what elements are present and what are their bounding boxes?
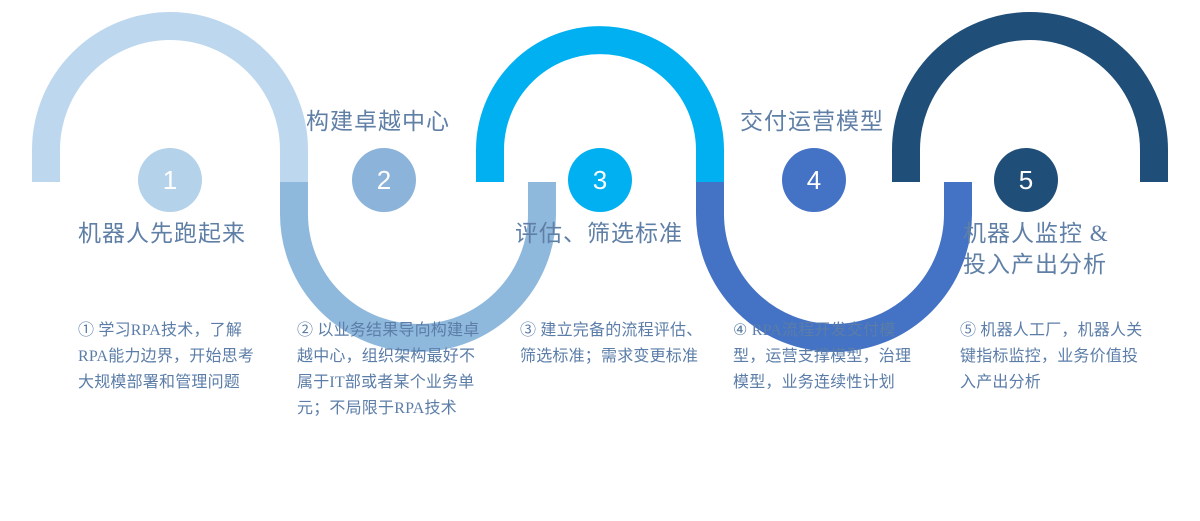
step-marker-3[interactable]: 3 <box>568 148 632 212</box>
step-description-4: ④ RPA流程开发交付模型，运营支撑模型，治理模型，业务连续性计划 <box>733 318 921 396</box>
step-number-3: 3 <box>593 167 607 193</box>
infographic-canvas: 1 2 3 4 5 机器人先跑起来 构建卓越中心 评估、筛选标准 交付运营模型 … <box>0 0 1200 521</box>
step-number-4: 4 <box>807 167 821 193</box>
step-description-3: ③ 建立完备的流程评估、筛选标准；需求变更标准 <box>520 318 708 370</box>
step-marker-4[interactable]: 4 <box>782 148 846 212</box>
step-marker-1[interactable]: 1 <box>138 148 202 212</box>
step-number-2: 2 <box>377 167 391 193</box>
step-marker-2[interactable]: 2 <box>352 148 416 212</box>
wave-segment-2 <box>294 182 542 338</box>
step-description-2: ② 以业务结果导向构建卓越中心，组织架构最好不属于IT部或者某个业务单元；不局限… <box>297 318 485 422</box>
phase-title-5: 机器人监控 & 投入产出分析 <box>963 218 1109 280</box>
step-number-5: 5 <box>1019 167 1033 193</box>
step-marker-5[interactable]: 5 <box>994 148 1058 212</box>
step-number-1: 1 <box>163 167 177 193</box>
wave-segment-4 <box>710 182 958 338</box>
phase-title-3: 评估、筛选标准 <box>515 218 683 249</box>
phase-title-4: 交付运营模型 <box>740 106 884 137</box>
step-description-5: ⑤ 机器人工厂，机器人关键指标监控，业务价值投入产出分析 <box>960 318 1148 396</box>
step-description-1: ① 学习RPA技术，了解RPA能力边界，开始思考大规模部署和管理问题 <box>78 318 266 396</box>
phase-title-1: 机器人先跑起来 <box>78 218 246 249</box>
phase-title-2: 构建卓越中心 <box>306 106 450 137</box>
